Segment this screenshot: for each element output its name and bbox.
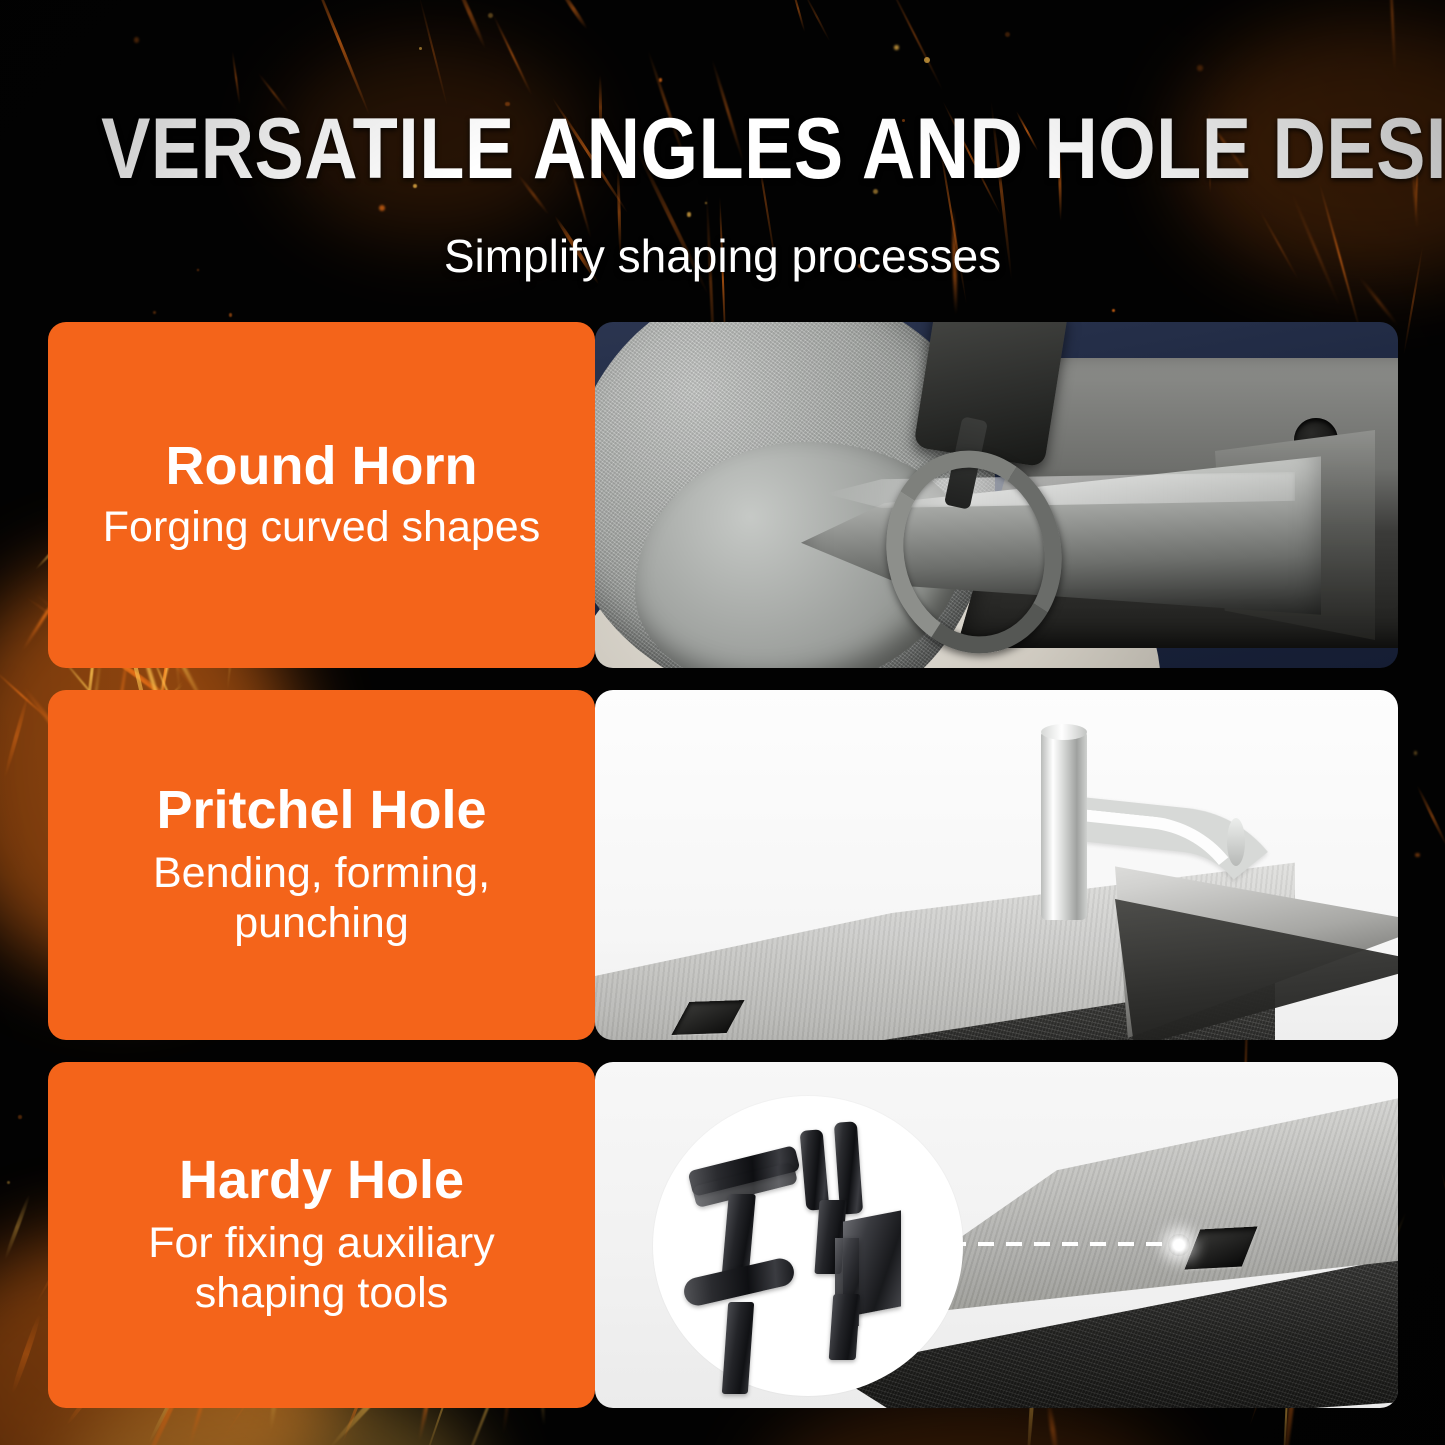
feature-subtitle-pritchel-hole: Bending, forming, punching xyxy=(153,849,490,949)
feature-photo-pritchel-hole xyxy=(595,690,1398,1040)
round-bending-tool-icon xyxy=(683,1258,808,1398)
page-title: VERSATILE ANGLES AND HOLE DESIGN xyxy=(101,106,1344,192)
feature-title-pritchel-hole: Pritchel Hole xyxy=(156,781,486,839)
callout-dashed-line xyxy=(950,1242,1178,1246)
photo-round-horn-scene xyxy=(595,322,1398,668)
feature-photo-round-horn xyxy=(595,322,1398,668)
blacksmith-tongs xyxy=(913,322,1068,467)
photo-pritchel-hole-scene xyxy=(595,690,1398,1040)
callout-glow-dot xyxy=(1168,1234,1190,1256)
feature-card-hardy-hole[interactable]: Hardy Hole For fixing auxiliary shaping … xyxy=(48,1062,595,1408)
feature-row-round-horn: Round Horn Forging curved shapes xyxy=(48,322,1398,668)
feature-title-hardy-hole: Hardy Hole xyxy=(179,1151,464,1209)
product-feature-infographic: VERSATILE ANGLES AND HOLE DESIGN Simplif… xyxy=(0,0,1445,1445)
page-title-block: VERSATILE ANGLES AND HOLE DESIGN xyxy=(0,106,1445,192)
feature-subtitle-line-2: shaping tools xyxy=(195,1269,448,1317)
bent-rod-end-cap xyxy=(1227,818,1245,866)
feature-card-round-horn[interactable]: Round Horn Forging curved shapes xyxy=(48,322,595,668)
photo-hardy-hole-scene xyxy=(595,1062,1398,1408)
page-subtitle-block: Simplify shaping processes xyxy=(0,233,1445,279)
feature-card-pritchel-hole[interactable]: Pritchel Hole Bending, forming, punching xyxy=(48,690,595,1040)
feature-subtitle-line-2: punching xyxy=(234,899,409,947)
feature-row-hardy-hole: Hardy Hole For fixing auxiliary shaping … xyxy=(48,1062,1398,1408)
hot-cut-chisel-tool-icon xyxy=(815,1216,925,1366)
feature-subtitle-line-1: Bending, forming, xyxy=(153,849,490,897)
steel-rod-top xyxy=(1041,724,1087,740)
feature-subtitle-line-1: For fixing auxiliary xyxy=(148,1219,495,1267)
feature-subtitle-round-horn: Forging curved shapes xyxy=(103,503,540,553)
feature-subtitle-hardy-hole: For fixing auxiliary shaping tools xyxy=(148,1219,495,1319)
feature-title-round-horn: Round Horn xyxy=(166,437,478,495)
feature-photo-hardy-hole xyxy=(595,1062,1398,1408)
steel-rod xyxy=(1041,730,1087,920)
page-subtitle: Simplify shaping processes xyxy=(0,233,1445,279)
feature-row-pritchel-hole: Pritchel Hole Bending, forming, punching xyxy=(48,690,1398,1040)
